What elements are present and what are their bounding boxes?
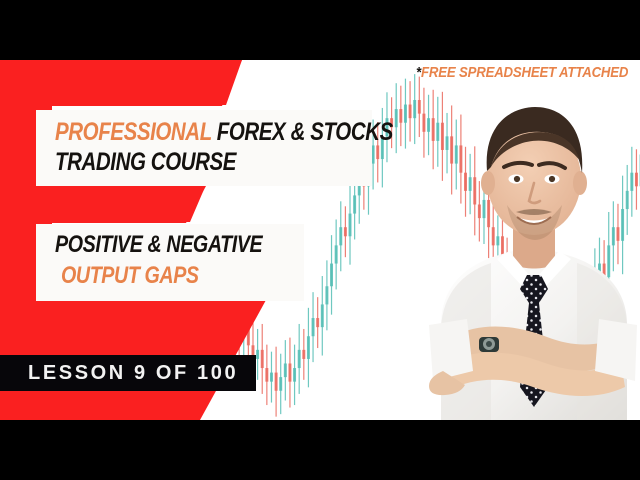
badge-text: FREE SPREADSHEET ATTACHED (421, 64, 628, 81)
headline-rest: FOREX & STOCKS (217, 118, 393, 146)
topic-line-1: POSITIVE & NEGATIVE (55, 231, 262, 259)
thumbnail-content-band: PROFESSIONAL FOREX & STOCKS TRADING COUR… (0, 60, 640, 420)
video-thumbnail: PROFESSIONAL FOREX & STOCKS TRADING COUR… (0, 0, 640, 480)
presenter-svg (421, 75, 640, 420)
lesson-bar: LESSON 9 OF 100 (0, 355, 256, 391)
headline-line-2: TRADING COURSE (55, 148, 236, 177)
presenter-photo (421, 75, 640, 420)
headline-panel: PROFESSIONAL FOREX & STOCKS TRADING COUR… (36, 110, 372, 186)
lesson-label: LESSON 9 OF 100 (28, 362, 238, 385)
topic-panel: POSITIVE & NEGATIVE OUTPUT GAPS (36, 224, 304, 301)
topic-line-2: OUTPUT GAPS (61, 262, 199, 290)
free-spreadsheet-badge: *FREE SPREADSHEET ATTACHED (416, 64, 628, 81)
headline-line-1: PROFESSIONAL FOREX & STOCKS (55, 118, 393, 147)
headline-highlight: PROFESSIONAL (55, 118, 211, 146)
letterbox-bottom (0, 420, 640, 480)
letterbox-top (0, 0, 640, 60)
